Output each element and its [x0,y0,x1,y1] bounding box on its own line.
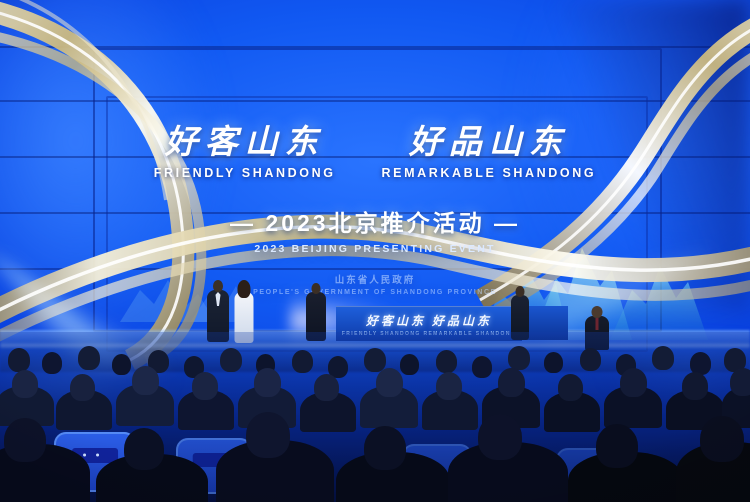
audience-head [192,372,218,400]
slogan-en-text: REMARKABLE SHANDONG [382,166,597,180]
audience-head [4,418,46,462]
person-head [592,306,603,318]
slogan-cn-text: 好客山东 [154,126,336,161]
audience-head [400,354,419,375]
audience-head [544,352,563,373]
audience-head [78,346,100,370]
audience-head [314,374,339,401]
audience-head [596,424,638,468]
audience-head [292,350,313,373]
audience-head [364,348,386,372]
event-title-en: 2023 BEIJING PRESENTING EVENT [0,243,750,255]
audience-head [730,368,750,396]
slogan-cn-text: 好品山东 [382,126,597,161]
audience-head [682,372,708,400]
person-hair [238,280,251,298]
audience-head [42,352,62,374]
audience-head [112,354,131,375]
led-title-block: 好客山东 FRIENDLY SHANDONG 好品山东 REMARKABLE S… [0,126,750,296]
audience-head [498,368,525,397]
organizer-en: PEOPLE'S GOVERNMENT OF SHANDONG PROVINCE [0,289,750,296]
slogan-friendly-shandong: 好客山东 FRIENDLY SHANDONG [154,126,336,180]
audience-head [254,368,281,397]
audience-head [478,414,522,460]
audience-head [8,348,30,372]
person-tie [596,318,599,330]
organizer-credit: 山东省人民政府 PEOPLE'S GOVERNMENT OF SHANDONG … [0,272,750,296]
slogan-remarkable-shandong: 好品山东 REMARKABLE SHANDONG [382,126,597,180]
audience-head [436,372,462,400]
event-title: — 2023北京推介活动 — 2023 BEIJING PRESENTING E… [0,204,750,255]
audience-head [70,374,95,401]
chair-plate-dot [96,454,99,457]
stage-photograph: 好客山东 FRIENDLY SHANDONG 好品山东 REMARKABLE S… [0,0,750,502]
person-head [516,286,525,297]
audience-head [558,374,583,401]
audience-head [124,428,164,470]
audience-head [652,346,674,370]
audience-head [364,426,406,470]
podium-banner-cn: 好客山东 好品山东 [366,312,492,329]
audience-head [220,348,242,372]
audience-head [246,412,290,458]
audience-head [12,370,38,398]
audience-head [508,346,530,370]
audience-head [436,350,457,373]
audience-head [472,356,492,378]
audience-head [700,416,744,462]
audience-section [0,332,750,502]
audience-head [376,368,403,397]
person-head [213,280,223,292]
audience-head [132,366,159,395]
slogan-en-text: FRIENDLY SHANDONG [154,166,336,180]
person-head [312,283,321,294]
audience-head [620,368,647,397]
audience-head [580,348,601,371]
slogan-row: 好客山东 FRIENDLY SHANDONG 好品山东 REMARKABLE S… [0,126,750,180]
organizer-cn: 山东省人民政府 [0,272,750,286]
chair-plate-dot [83,454,86,457]
event-title-cn: — 2023北京推介活动 — [0,204,750,238]
